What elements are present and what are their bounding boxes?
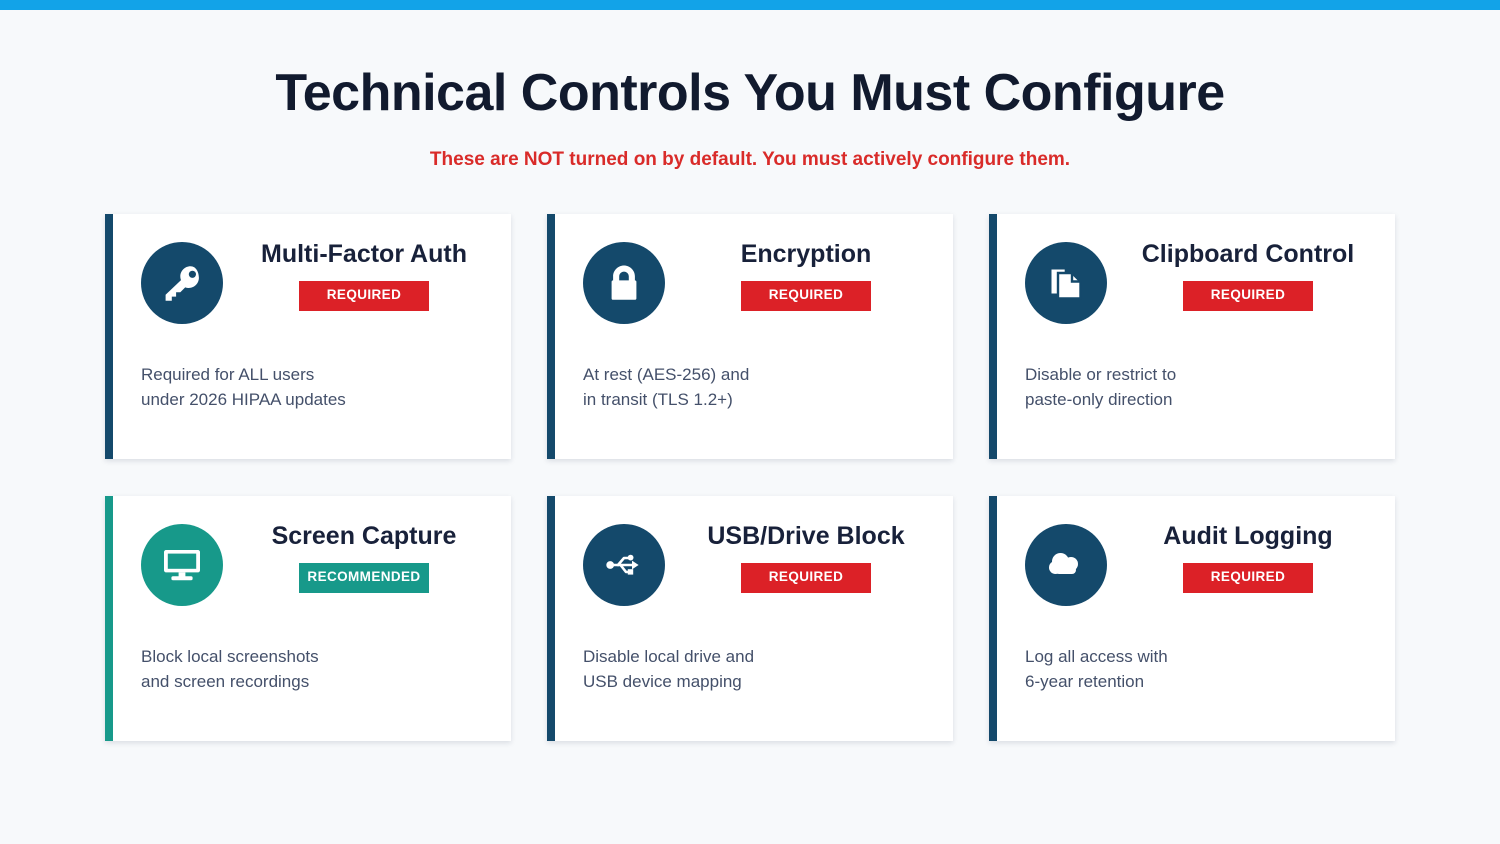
card-header: USB/Drive Block REQUIRED — [583, 520, 927, 606]
card-title: USB/Drive Block — [707, 522, 904, 551]
card-title: Multi-Factor Auth — [261, 240, 467, 269]
card-accent-bar — [547, 214, 555, 459]
card-accent-bar — [989, 214, 997, 459]
card-accent-bar — [547, 496, 555, 741]
key-icon — [141, 242, 223, 324]
copy-documents-icon — [1025, 242, 1107, 324]
card-body: Multi-Factor Auth REQUIRED Required for … — [113, 214, 511, 459]
card-header: Audit Logging REQUIRED — [1025, 520, 1369, 606]
card-body: USB/Drive Block REQUIRED Disable local d… — [555, 496, 953, 741]
card-head-text: USB/Drive Block REQUIRED — [665, 520, 927, 594]
page-title: Technical Controls You Must Configure — [0, 66, 1500, 121]
card-description: Required for ALL users under 2026 HIPAA … — [141, 324, 485, 414]
card-body: Screen Capture RECOMMENDED Block local s… — [113, 496, 511, 741]
status-badge: REQUIRED — [1183, 281, 1313, 311]
card-description: Disable or restrict to paste-only direct… — [1025, 324, 1369, 414]
card-head-text: Screen Capture RECOMMENDED — [223, 520, 485, 594]
lock-icon — [583, 242, 665, 324]
card-head-text: Multi-Factor Auth REQUIRED — [223, 238, 485, 312]
status-badge: REQUIRED — [741, 281, 871, 311]
control-card-screen-capture[interactable]: Screen Capture RECOMMENDED Block local s… — [105, 496, 511, 741]
status-badge: REQUIRED — [741, 563, 871, 593]
card-accent-bar — [105, 496, 113, 741]
card-description: Disable local drive and USB device mappi… — [583, 606, 927, 696]
card-body: Clipboard Control REQUIRED Disable or re… — [997, 214, 1395, 459]
card-body: Encryption REQUIRED At rest (AES-256) an… — [555, 214, 953, 459]
page-header: Technical Controls You Must Configure Th… — [0, 10, 1500, 171]
status-badge: REQUIRED — [299, 281, 429, 311]
card-description: Log all access with 6-year retention — [1025, 606, 1369, 696]
cloud-icon — [1025, 524, 1107, 606]
control-card-audit-logging[interactable]: Audit Logging REQUIRED Log all access wi… — [989, 496, 1395, 741]
card-header: Screen Capture RECOMMENDED — [141, 520, 485, 606]
status-badge: REQUIRED — [1183, 563, 1313, 593]
controls-grid: Multi-Factor Auth REQUIRED Required for … — [105, 171, 1395, 741]
page-subtitle: These are NOT turned on by default. You … — [0, 121, 1500, 171]
card-head-text: Clipboard Control REQUIRED — [1107, 238, 1369, 312]
monitor-icon — [141, 524, 223, 606]
card-body: Audit Logging REQUIRED Log all access wi… — [997, 496, 1395, 741]
card-header: Multi-Factor Auth REQUIRED — [141, 238, 485, 324]
control-card-encryption[interactable]: Encryption REQUIRED At rest (AES-256) an… — [547, 214, 953, 459]
card-title: Screen Capture — [272, 522, 457, 551]
card-description: At rest (AES-256) and in transit (TLS 1.… — [583, 324, 927, 414]
card-accent-bar — [989, 496, 997, 741]
card-head-text: Encryption REQUIRED — [665, 238, 927, 312]
card-title: Clipboard Control — [1142, 240, 1354, 269]
usb-icon — [583, 524, 665, 606]
card-accent-bar — [105, 214, 113, 459]
control-card-clipboard-control[interactable]: Clipboard Control REQUIRED Disable or re… — [989, 214, 1395, 459]
card-title: Encryption — [741, 240, 872, 269]
card-header: Clipboard Control REQUIRED — [1025, 238, 1369, 324]
card-description: Block local screenshots and screen recor… — [141, 606, 485, 696]
card-header: Encryption REQUIRED — [583, 238, 927, 324]
control-card-multi-factor-auth[interactable]: Multi-Factor Auth REQUIRED Required for … — [105, 214, 511, 459]
status-badge: RECOMMENDED — [299, 563, 429, 593]
card-head-text: Audit Logging REQUIRED — [1107, 520, 1369, 594]
control-card-usb-drive-block[interactable]: USB/Drive Block REQUIRED Disable local d… — [547, 496, 953, 741]
top-accent-bar — [0, 0, 1500, 10]
card-title: Audit Logging — [1163, 522, 1332, 551]
